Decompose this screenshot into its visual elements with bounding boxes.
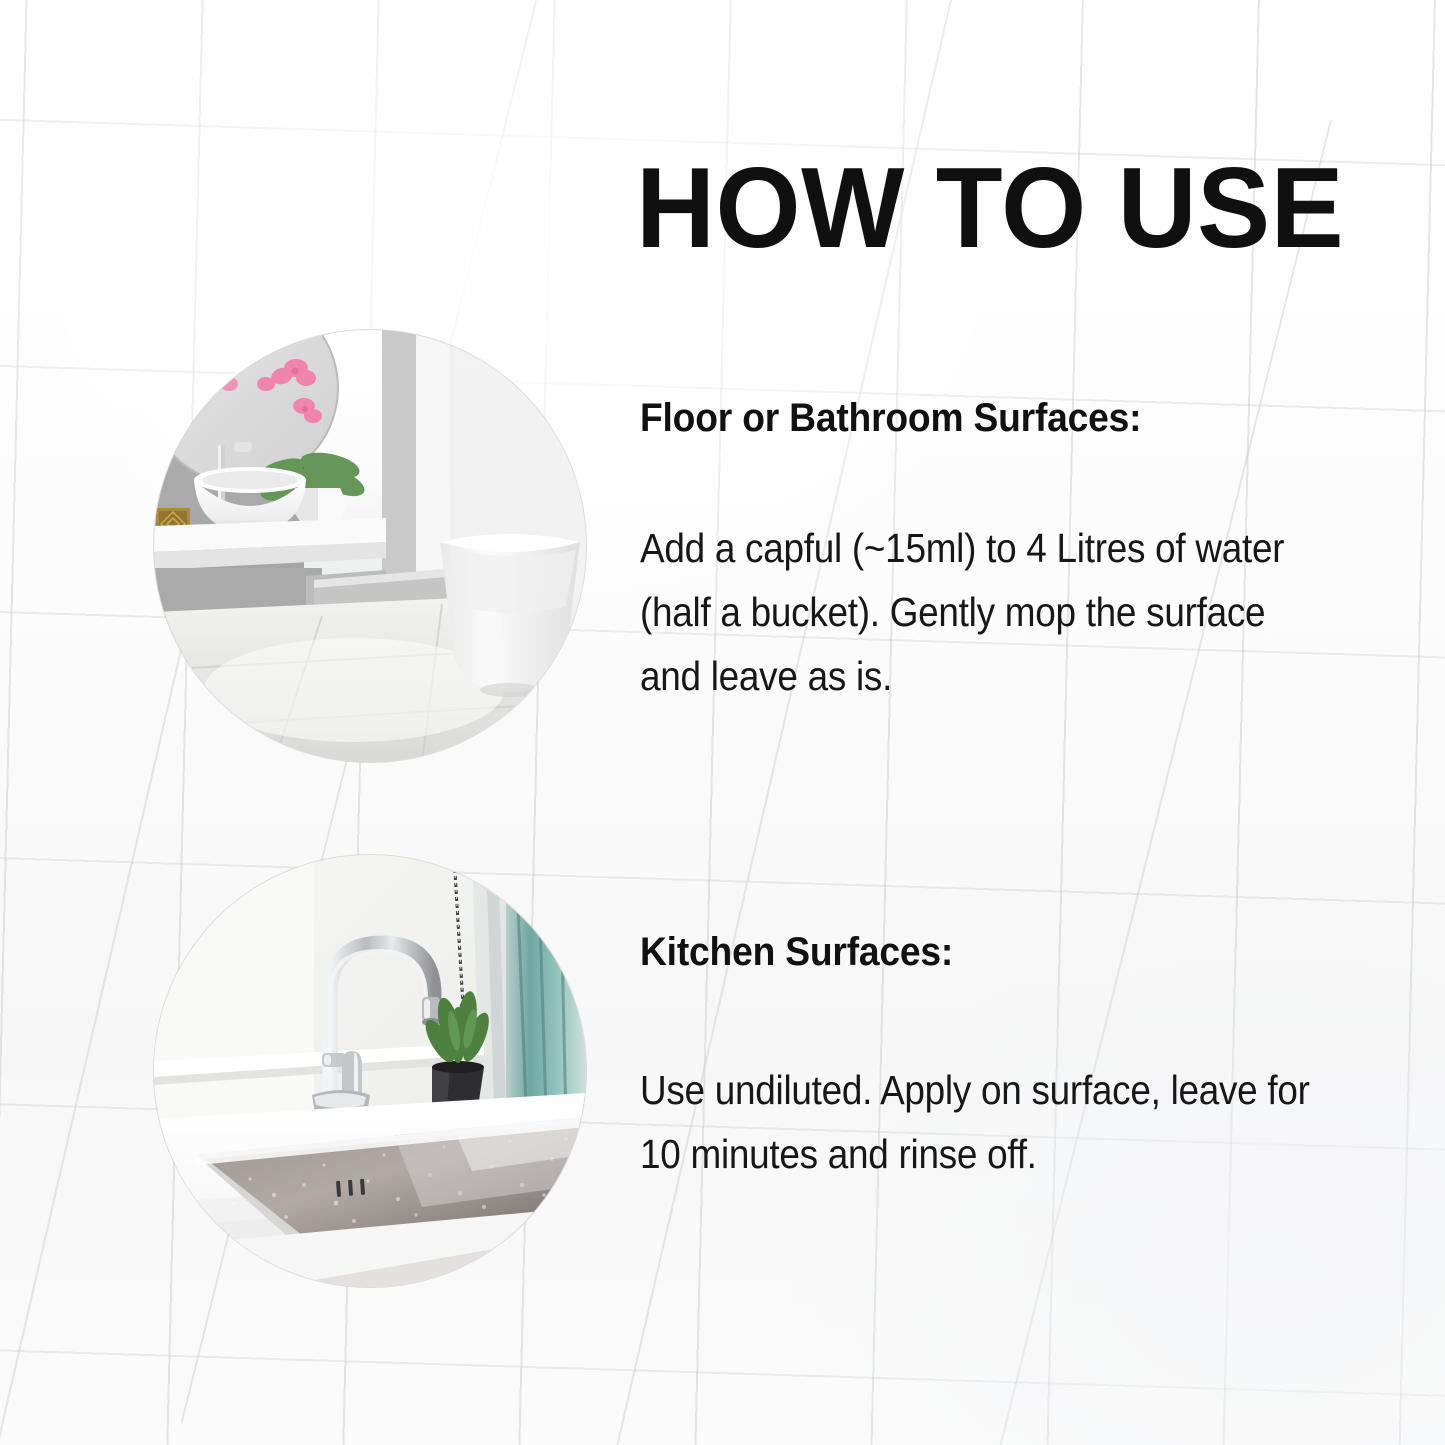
section-heading-kitchen: Kitchen Surfaces: <box>640 930 953 974</box>
bathroom-photo <box>154 330 586 762</box>
how-to-use-infographic: HOW TO USE <box>0 0 1445 1445</box>
section-body-floor-bathroom: Add a capful (~15ml) to 4 Litres of wate… <box>640 516 1324 708</box>
kitchen-photo <box>154 855 586 1287</box>
section-heading-floor-bathroom: Floor or Bathroom Surfaces: <box>640 396 1141 440</box>
page-title: HOW TO USE <box>636 152 1308 266</box>
section-body-kitchen: Use undiluted. Apply on surface, leave f… <box>640 1058 1324 1186</box>
